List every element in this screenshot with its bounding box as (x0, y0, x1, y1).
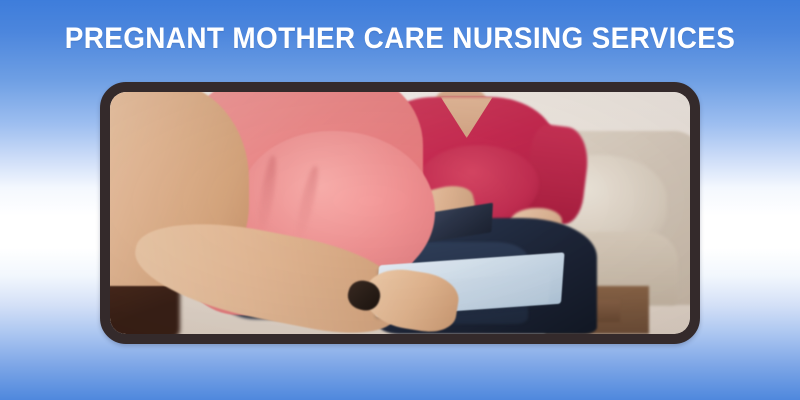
promotional-banner: PREGNANT MOTHER CARE NURSING SERVICES (0, 0, 800, 400)
photo-color-grade (110, 92, 690, 334)
hero-photo (110, 92, 690, 334)
photo-frame (100, 82, 700, 344)
page-title: PREGNANT MOTHER CARE NURSING SERVICES (28, 22, 772, 56)
